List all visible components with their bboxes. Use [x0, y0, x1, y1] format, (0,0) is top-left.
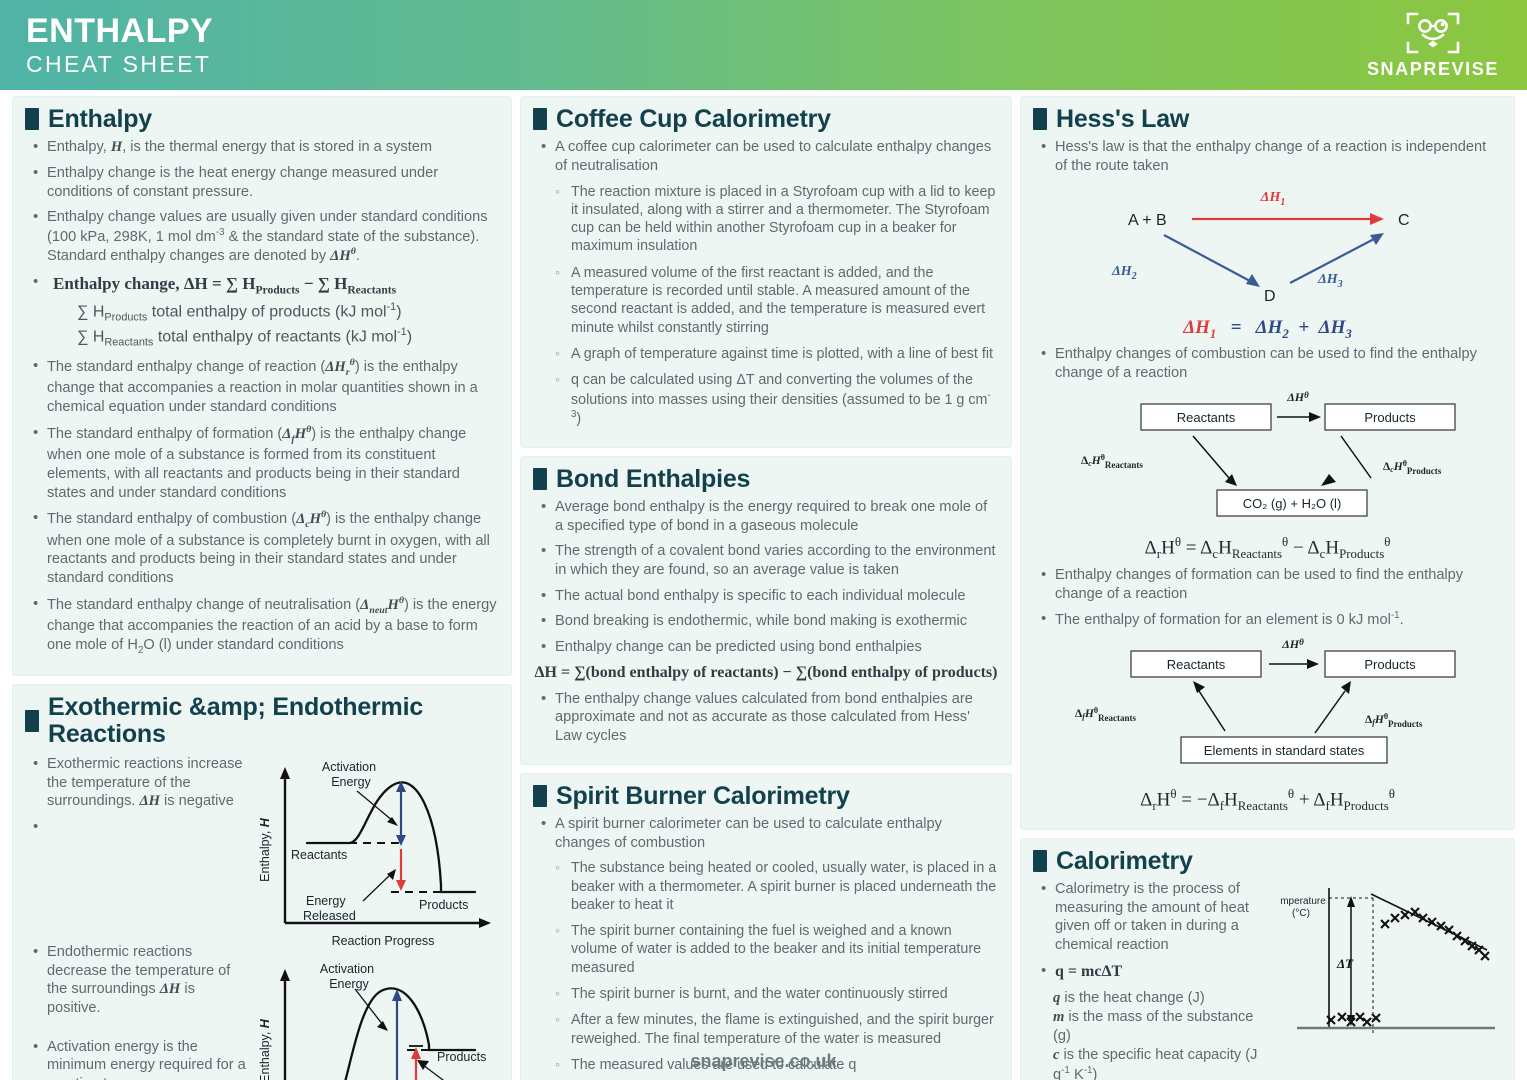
section-marker-icon — [1033, 108, 1047, 130]
enthalpy-formula-item: Enthalpy change, ΔH = ∑ HProducts − ∑ HR… — [25, 273, 499, 350]
exothermic-energy-profile-chart: Activation Energy Reactants Products Ene… — [251, 755, 499, 955]
list-item: Endothermic reactions decrease the tempe… — [25, 943, 249, 1018]
label-products: Products — [419, 898, 468, 912]
section-head-spirit-burner: Spirit Burner Calorimetry — [533, 783, 999, 809]
svg-text:Released: Released — [303, 909, 356, 923]
brand-logo: SNAPREVISE — [1367, 11, 1499, 80]
label-activation-energy: Activation — [322, 760, 376, 774]
section-title: Calorimetry — [1056, 848, 1193, 874]
calorimetry-temperature-time-chart: ΔT mperature (°C) — [1267, 880, 1502, 1060]
section-marker-icon — [25, 710, 39, 732]
section-marker-icon — [533, 785, 547, 807]
page-subtitle: CHEAT SHEET — [26, 53, 213, 76]
section-head-bond-enthalpies: Bond Enthalpies — [533, 466, 999, 492]
section-title: Coffee Cup Calorimetry — [556, 106, 831, 132]
list-item: The standard enthalpy of combustion (ΔcH… — [25, 509, 499, 587]
axis-label-x: Reaction Progress — [332, 934, 435, 948]
exo-endo-graphs: Activation Energy Reactants Products Ene… — [251, 753, 499, 1080]
label-delta-h1: ΔH1 — [1259, 190, 1285, 208]
formula-q-mc-dt: q = mcΔT — [1055, 963, 1122, 980]
card-hess-law: Hess's Law Hess's law is that the enthal… — [1020, 96, 1515, 830]
column-1: Enthalpy Enthalpy, H, is the thermal ene… — [12, 96, 512, 1068]
section-head-hess: Hess's Law — [1033, 106, 1502, 132]
svg-text:Energy: Energy — [329, 977, 369, 991]
box-products: Products — [1364, 410, 1416, 425]
list-item: Enthalpy change values are usually given… — [25, 208, 499, 266]
exo-endo-bullets: Exothermic reactions increase the temper… — [25, 755, 249, 1080]
hess-bullet-2: Enthalpy changes of combustion can be us… — [1033, 345, 1502, 382]
column-2: Coffee Cup Calorimetry A coffee cup calo… — [520, 96, 1012, 1068]
section-marker-icon — [1033, 850, 1047, 872]
list-item: The spirit burner containing the fuel is… — [551, 922, 999, 977]
section-title: Hess's Law — [1056, 106, 1189, 132]
list-item: A spirit burner calorimeter can be used … — [533, 815, 999, 852]
calorimetry-formula-item: q = mcΔT — [1033, 962, 1267, 982]
label-delta-t: ΔT — [1336, 956, 1354, 971]
list-item: Exothermic reactions increase the temper… — [25, 755, 249, 811]
hess-triangle-equation: ΔH1 = ΔH2 + ΔH3 — [1033, 317, 1502, 342]
list-item: Enthalpy, H, is the thermal energy that … — [25, 138, 499, 157]
hess-triangle-diagram: A + B C D ΔH1 ΔH2 ΔH3 — [1068, 183, 1468, 313]
box-reactants: Reactants — [1176, 410, 1235, 425]
section-title: Exothermic &amp; Endothermic Reactions — [48, 694, 499, 747]
list-item: Enthalpy change is the heat energy chang… — [25, 164, 499, 201]
card-enthalpy: Enthalpy Enthalpy, H, is the thermal ene… — [12, 96, 512, 676]
label-delta-h-standard: ΔHθ — [1286, 390, 1309, 404]
label-energy-released: Energy — [306, 894, 346, 908]
node-c: C — [1398, 212, 1410, 229]
reaction-data-points — [1381, 908, 1489, 960]
list-item: The standard enthalpy change of neutrali… — [25, 595, 499, 658]
list-item: The strength of a covalent bond varies a… — [533, 542, 999, 579]
formula-bond-enthalpy: ΔH = ∑(bond enthalpy of reactants) − ∑(b… — [533, 664, 999, 682]
section-title: Bond Enthalpies — [556, 466, 750, 492]
spirit-burner-sub-bullets: The substance being heated or cooled, us… — [551, 859, 999, 1074]
list-item: The enthalpy of formation for an element… — [1033, 610, 1502, 630]
baseline-data-points — [1327, 1013, 1380, 1026]
combustion-equation: ΔrHθ = ΔcHReactantsθ − ΔcHProductsθ — [1033, 534, 1502, 562]
footer-url: snaprevise.co.uk — [0, 1051, 1527, 1072]
label-dcH-products: ΔcHθProducts — [1383, 459, 1442, 476]
card-calorimetry: Calorimetry Calorimetry is the process o… — [1020, 838, 1515, 1080]
section-head-coffee-cup: Coffee Cup Calorimetry — [533, 106, 999, 132]
box-elements-standard-states: Elements in standard states — [1203, 743, 1364, 758]
list-item: Average bond enthalpy is the energy requ… — [533, 498, 999, 535]
label-dfH-reactants: ΔfHθReactants — [1075, 706, 1137, 723]
bond-enthalpies-closing: The enthalpy change values calculated fr… — [533, 690, 999, 746]
page-header: ENTHALPY CHEAT SHEET SNAPREVISE — [0, 0, 1527, 90]
card-exothermic-endothermic: Exothermic &amp; Endothermic Reactions E… — [12, 684, 512, 1080]
exo-endo-text: Exothermic reactions increase the temper… — [25, 753, 249, 1080]
brand-name: SNAPREVISE — [1367, 59, 1499, 80]
section-marker-icon — [533, 468, 547, 490]
content-columns: Enthalpy Enthalpy, H, is the thermal ene… — [0, 90, 1527, 1068]
list-item: The spirit burner is burnt, and the wate… — [551, 985, 999, 1003]
list-item: A graph of temperature against time is p… — [551, 345, 999, 363]
eq-term-h1: ΔH1 — [1183, 317, 1216, 338]
axis-label-y: Enthalpy, H — [258, 817, 272, 882]
section-head-exo-endo: Exothermic &amp; Endothermic Reactions — [25, 694, 499, 747]
bond-enthalpies-bullets: Average bond enthalpy is the energy requ… — [533, 498, 999, 657]
cheat-sheet-page: ENTHALPY CHEAT SHEET SNAPREVISE — [0, 0, 1527, 1080]
label-delta-h-standard: ΔHθ — [1281, 637, 1304, 651]
section-title: Spirit Burner Calorimetry — [556, 783, 850, 809]
label-delta-h2: ΔH2 — [1111, 264, 1137, 282]
list-item: The standard enthalpy of formation (ΔfHθ… — [25, 424, 499, 502]
column-3: Hess's Law Hess's law is that the enthal… — [1020, 96, 1515, 1068]
formula-enthalpy-change: Enthalpy change, ΔH = ∑ HProducts − ∑ HR… — [53, 273, 499, 298]
def-m: m is the mass of the substance (g) — [1053, 1008, 1267, 1046]
eq-term-rest: = ΔH2 + ΔH3 — [1221, 317, 1352, 338]
section-marker-icon — [533, 108, 547, 130]
section-title: Enthalpy — [48, 106, 152, 132]
section-marker-icon — [25, 108, 39, 130]
coffee-cup-sub-bullets: The reaction mixture is placed in a Styr… — [551, 183, 999, 428]
box-products: Products — [1364, 657, 1416, 672]
def-q: q is the heat change (J) — [1053, 989, 1267, 1008]
list-item: The standard enthalpy change of reaction… — [25, 357, 499, 417]
list-item: Enthalpy changes of formation can be use… — [1033, 566, 1502, 603]
combustion-cycle-diagram: Reactants Products ΔHθ ΔcHθReactants ΔcH… — [1053, 390, 1483, 530]
hess-bullets-formation: Enthalpy changes of formation can be use… — [1033, 566, 1502, 630]
list-item: Enthalpy changes of combustion can be us… — [1033, 345, 1502, 382]
formula-reactants-def: ∑ HReactants total enthalpy of reactants… — [77, 326, 499, 350]
axis-label-y: mperature — [1280, 896, 1326, 907]
list-item: The actual bond enthalpy is specific to … — [533, 587, 999, 606]
snaprevise-face-icon — [1404, 11, 1462, 55]
coffee-cup-bullets: A coffee cup calorimeter can be used to … — [533, 138, 999, 175]
label-reactants: Reactants — [291, 848, 347, 862]
list-item: After a few minutes, the flame is exting… — [551, 1011, 999, 1048]
list-item: The substance being heated or cooled, us… — [551, 859, 999, 914]
box-co2-h2o: CO₂ (g) + H₂O (l) — [1242, 496, 1341, 511]
list-item: A coffee cup calorimeter can be used to … — [533, 138, 999, 175]
label-delta-h3: ΔH3 — [1317, 272, 1343, 290]
label-dcH-reactants: ΔcHθReactants — [1081, 453, 1143, 470]
node-a-plus-b: A + B — [1128, 212, 1167, 229]
enthalpy-bullets: Enthalpy, H, is the thermal energy that … — [25, 138, 499, 657]
node-d: D — [1264, 288, 1276, 305]
svg-text:Energy: Energy — [331, 775, 371, 789]
card-bond-enthalpies: Bond Enthalpies Average bond enthalpy is… — [520, 456, 1012, 765]
calorimetry-bullets: Calorimetry is the process of measuring … — [1033, 880, 1267, 982]
svg-text:(°C): (°C) — [1292, 908, 1310, 919]
card-coffee-cup-calorimetry: Coffee Cup Calorimetry A coffee cup calo… — [520, 96, 1012, 448]
label-activation-energy: Activation — [320, 962, 374, 976]
formation-cycle-diagram: Reactants Products ΔHθ ΔfHθReactants ΔfH… — [1053, 637, 1483, 782]
list-item: Enthalpy change can be predicted using b… — [533, 638, 999, 657]
section-head-enthalpy: Enthalpy — [25, 106, 499, 132]
card-spirit-burner-calorimetry: Spirit Burner Calorimetry A spirit burne… — [520, 773, 1012, 1080]
list-item: A measured volume of the first reactant … — [551, 264, 999, 337]
page-title: ENTHALPY — [26, 14, 213, 48]
label-dfH-products: ΔfHθProducts — [1365, 712, 1423, 729]
formation-equation: ΔrHθ = −ΔfHReactantsθ + ΔfHProductsθ — [1033, 786, 1502, 814]
section-head-calorimetry: Calorimetry — [1033, 848, 1502, 874]
list-item: Hess's law is that the enthalpy change o… — [1033, 138, 1502, 175]
list-item: Bond breaking is endothermic, while bond… — [533, 612, 999, 631]
title-block: ENTHALPY CHEAT SHEET — [26, 14, 213, 76]
list-item: The reaction mixture is placed in a Styr… — [551, 183, 999, 256]
list-item: q can be calculated using ΔT and convert… — [551, 371, 999, 427]
box-reactants: Reactants — [1166, 657, 1225, 672]
spacer — [25, 818, 249, 936]
list-item: Calorimetry is the process of measuring … — [1033, 880, 1267, 955]
list-item: The enthalpy change values calculated fr… — [533, 690, 999, 746]
exo-endo-body: Exothermic reactions increase the temper… — [25, 753, 499, 1080]
spirit-burner-bullets: A spirit burner calorimeter can be used … — [533, 815, 999, 852]
hess-bullet-1: Hess's law is that the enthalpy change o… — [1033, 138, 1502, 175]
formula-products-def: ∑ HProducts total enthalpy of products (… — [77, 301, 499, 325]
